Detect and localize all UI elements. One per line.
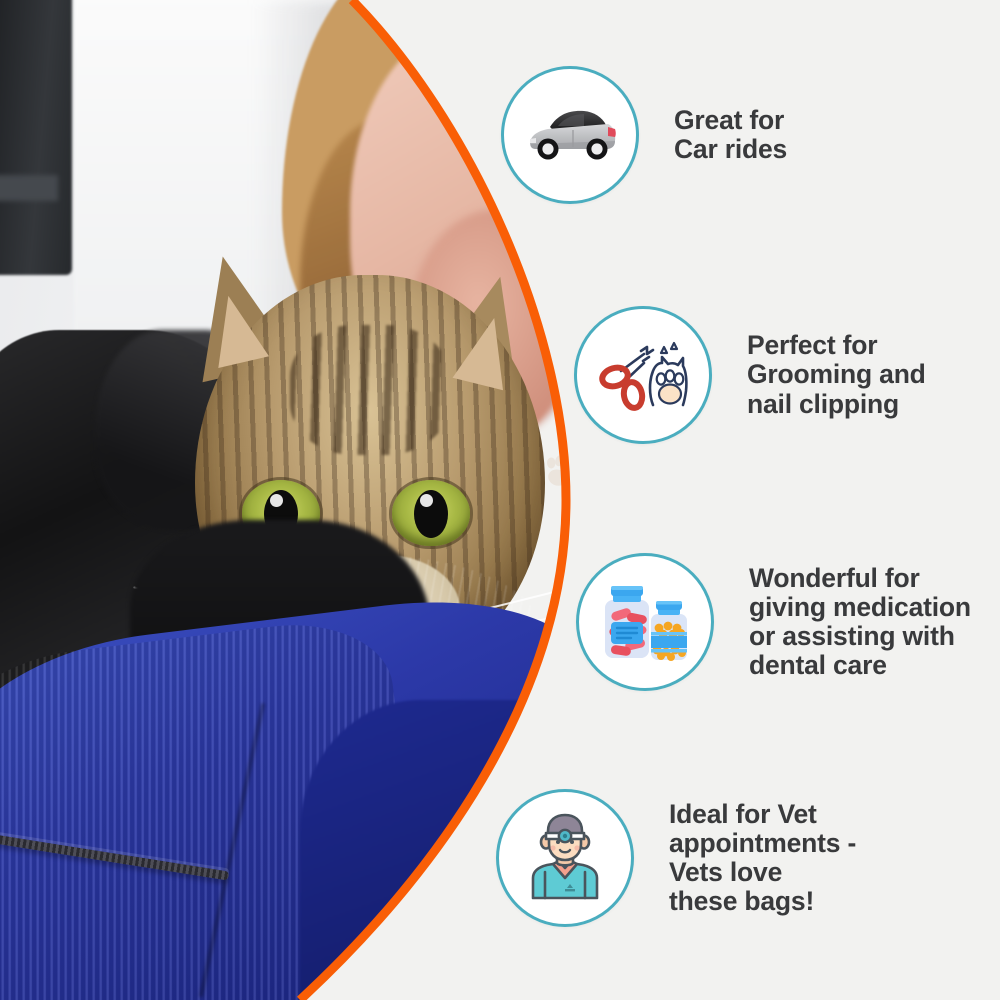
feature-icon-circle (576, 553, 714, 691)
feature-label: Wonderful for giving medication or assis… (749, 564, 971, 681)
feature-icon-circle (574, 306, 712, 444)
feature-icon-circle (501, 66, 639, 204)
feature-label: Ideal for Vet appointments - Vets love t… (669, 800, 856, 917)
feature-label: Perfect for Grooming and nail clipping (747, 331, 926, 418)
feature-row-grooming: Perfect for Grooming and nail clipping (574, 306, 926, 444)
feature-row-car-rides: Great for Car rides (501, 66, 787, 204)
pill-bottles-icon (593, 570, 697, 674)
feature-row-medication: Wonderful for giving medication or assis… (576, 553, 971, 691)
car-icon (518, 83, 622, 187)
veterinarian-icon (513, 806, 617, 910)
feature-icon-circle (496, 789, 634, 927)
infographic-canvas: Great for Car rides (0, 0, 1000, 1000)
cat-eye-right (392, 480, 470, 546)
background-monitor (0, 0, 72, 275)
nail-clipper-paw-icon (591, 323, 695, 427)
feature-row-vet: Ideal for Vet appointments - Vets love t… (496, 789, 856, 927)
feature-label: Great for Car rides (674, 106, 787, 164)
